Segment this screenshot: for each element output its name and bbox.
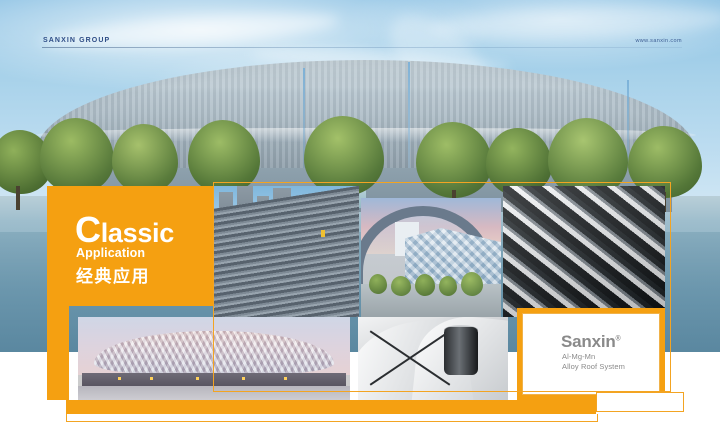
collage-frame: Classic Application 经典应用	[47, 186, 665, 400]
registered-mark-icon: ®	[616, 335, 621, 342]
tree-canopy	[439, 276, 457, 296]
tile-white-curved-metal-panels	[358, 317, 508, 400]
headline-title-cn: 经典应用	[76, 262, 150, 287]
logo-brand-text: Sanxin	[561, 332, 616, 351]
dome-seam	[408, 62, 410, 172]
stadium-podium	[82, 373, 346, 387]
tree-canopy	[391, 276, 411, 296]
logo-brand-name: Sanxin®	[561, 332, 621, 352]
tile-dusk-dome-stadium	[78, 317, 350, 400]
frame-bottom-outline	[66, 414, 598, 422]
brochure-page: SANXIN GROUP www.sanxin.com Classic	[0, 0, 720, 435]
plaza-ground	[78, 386, 350, 400]
website-url[interactable]: www.sanxin.com	[635, 38, 682, 44]
tile-shading	[503, 186, 665, 317]
headline-subtitle: Application	[76, 246, 145, 260]
image-collage: Classic Application 经典应用	[47, 186, 665, 400]
facade-light	[196, 377, 199, 380]
frame-bottom-step	[596, 392, 684, 412]
tile-dark-diagonal-metal-roof	[503, 186, 665, 317]
brand-wordmark: SANXIN GROUP	[43, 37, 110, 44]
logo-system-line: Alloy Roof System	[562, 362, 625, 371]
facade-light	[150, 377, 153, 380]
worker-figure	[321, 230, 325, 237]
tile-glass-arc-pavilion	[361, 198, 501, 317]
header-divider	[42, 47, 682, 48]
headline-title: Classic	[75, 212, 174, 248]
tree-canopy	[415, 274, 435, 296]
facade-light	[242, 377, 245, 380]
headline-panel: Classic Application 经典应用	[47, 186, 213, 306]
standing-seam-roof	[213, 186, 359, 317]
logo-alloy-line: Al-Mg-Mn	[562, 352, 595, 361]
tree-canopy	[369, 274, 387, 294]
tile-grey-standing-seam-roof	[213, 186, 359, 317]
frame-bottom-bar	[66, 400, 596, 414]
logo-card: Sanxin® Al-Mg-Mn Alloy Roof System	[517, 308, 665, 400]
roof-drum	[444, 327, 478, 375]
facade-light	[118, 377, 121, 380]
headline-initial: C	[75, 209, 101, 250]
headline-rest: lassic	[101, 218, 174, 248]
facade-light	[284, 377, 287, 380]
tree-trunk	[16, 186, 20, 210]
tree-canopy	[461, 272, 483, 296]
